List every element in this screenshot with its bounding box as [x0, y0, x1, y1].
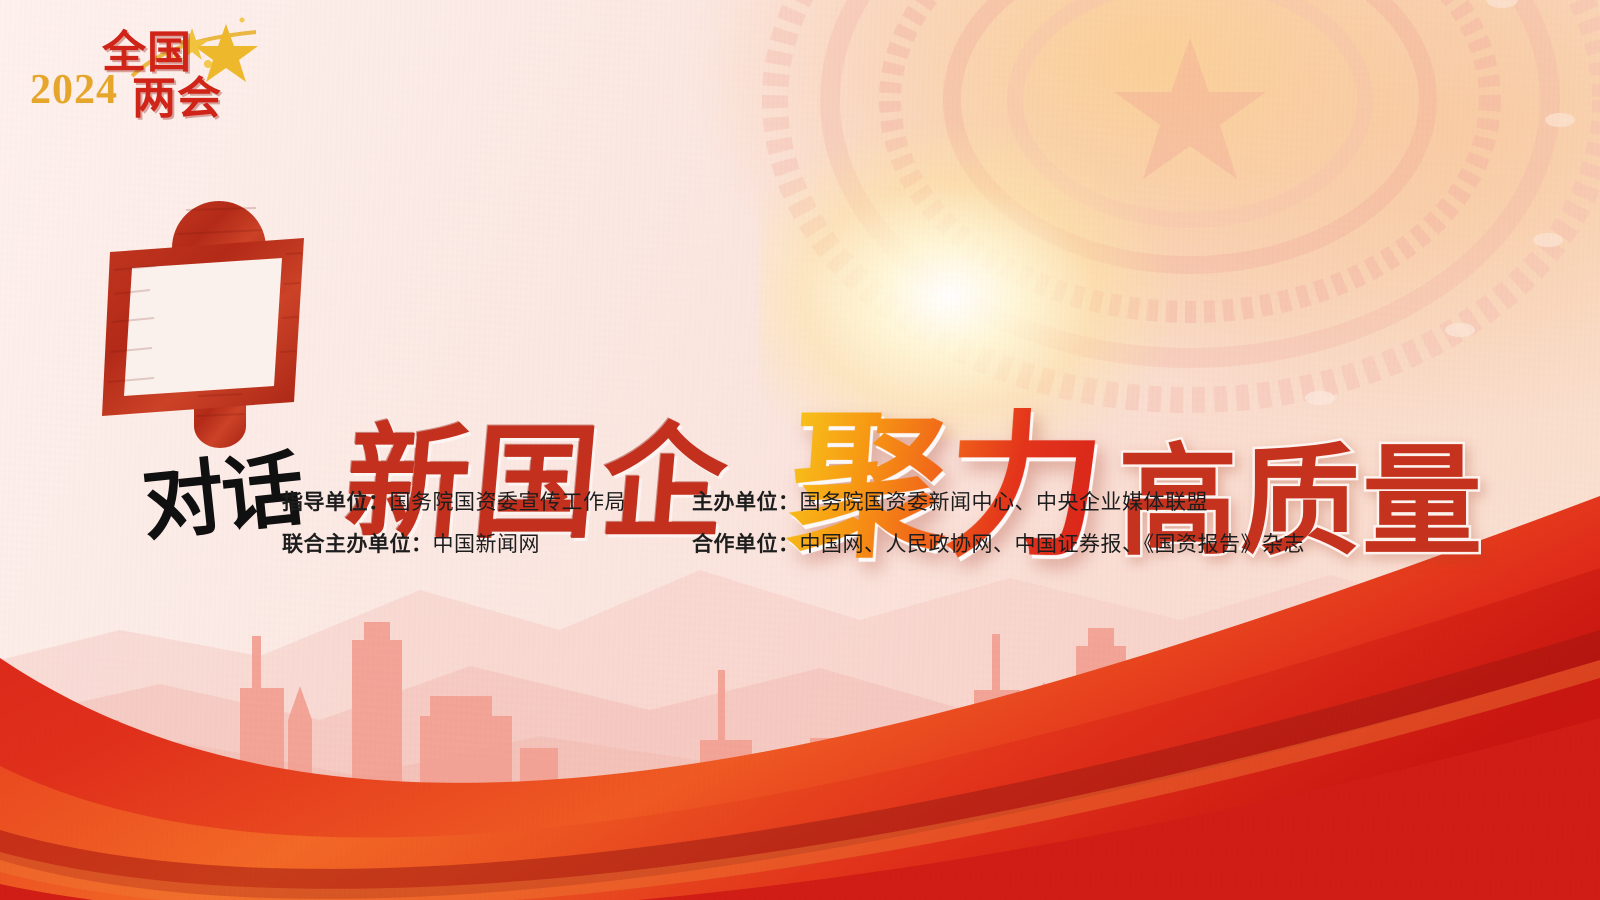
poster-canvas: 全国 2024 两会	[0, 0, 1600, 900]
microphone-speech-badge-icon	[96, 190, 346, 455]
lianghui-logo: 全国 2024 两会	[22, 10, 262, 122]
credits-row: 指导单位：国务院国资委宣传工作局 主办单位：国务院国资委新闻中心、中央企业媒体联…	[282, 480, 1402, 522]
credits-cell: 联合主办单位：中国新闻网	[282, 528, 692, 558]
logo-year-text: 2024	[30, 66, 118, 114]
credit-value: 国务院国资委新闻中心、中央企业媒体联盟	[800, 491, 1209, 514]
credit-label: 指导单位：	[282, 491, 390, 514]
credits-row: 联合主办单位：中国新闻网 合作单位：中国网、人民政协网、中国证券报、《国资报告》…	[282, 522, 1402, 564]
credit-value: 国务院国资委宣传工作局	[390, 491, 627, 514]
credit-label: 主办单位：	[692, 491, 800, 514]
credit-label: 合作单位：	[692, 533, 800, 556]
credits-block: 指导单位：国务院国资委宣传工作局 主办单位：国务院国资委新闻中心、中央企业媒体联…	[282, 480, 1402, 564]
logo-lianghui-text: 两会	[132, 62, 222, 126]
credit-value: 中国新闻网	[433, 533, 541, 556]
credits-cell: 合作单位：中国网、人民政协网、中国证券报、《国资报告》杂志	[692, 528, 1402, 558]
credits-cell: 指导单位：国务院国资委宣传工作局	[282, 486, 692, 516]
credit-label: 联合主办单位：	[282, 533, 433, 556]
credits-cell: 主办单位：国务院国资委新闻中心、中央企业媒体联盟	[692, 486, 1402, 516]
credit-value: 中国网、人民政协网、中国证券报、《国资报告》杂志	[800, 533, 1306, 556]
main-title: 对话 新国企 聚力 高质量	[0, 190, 1600, 460]
